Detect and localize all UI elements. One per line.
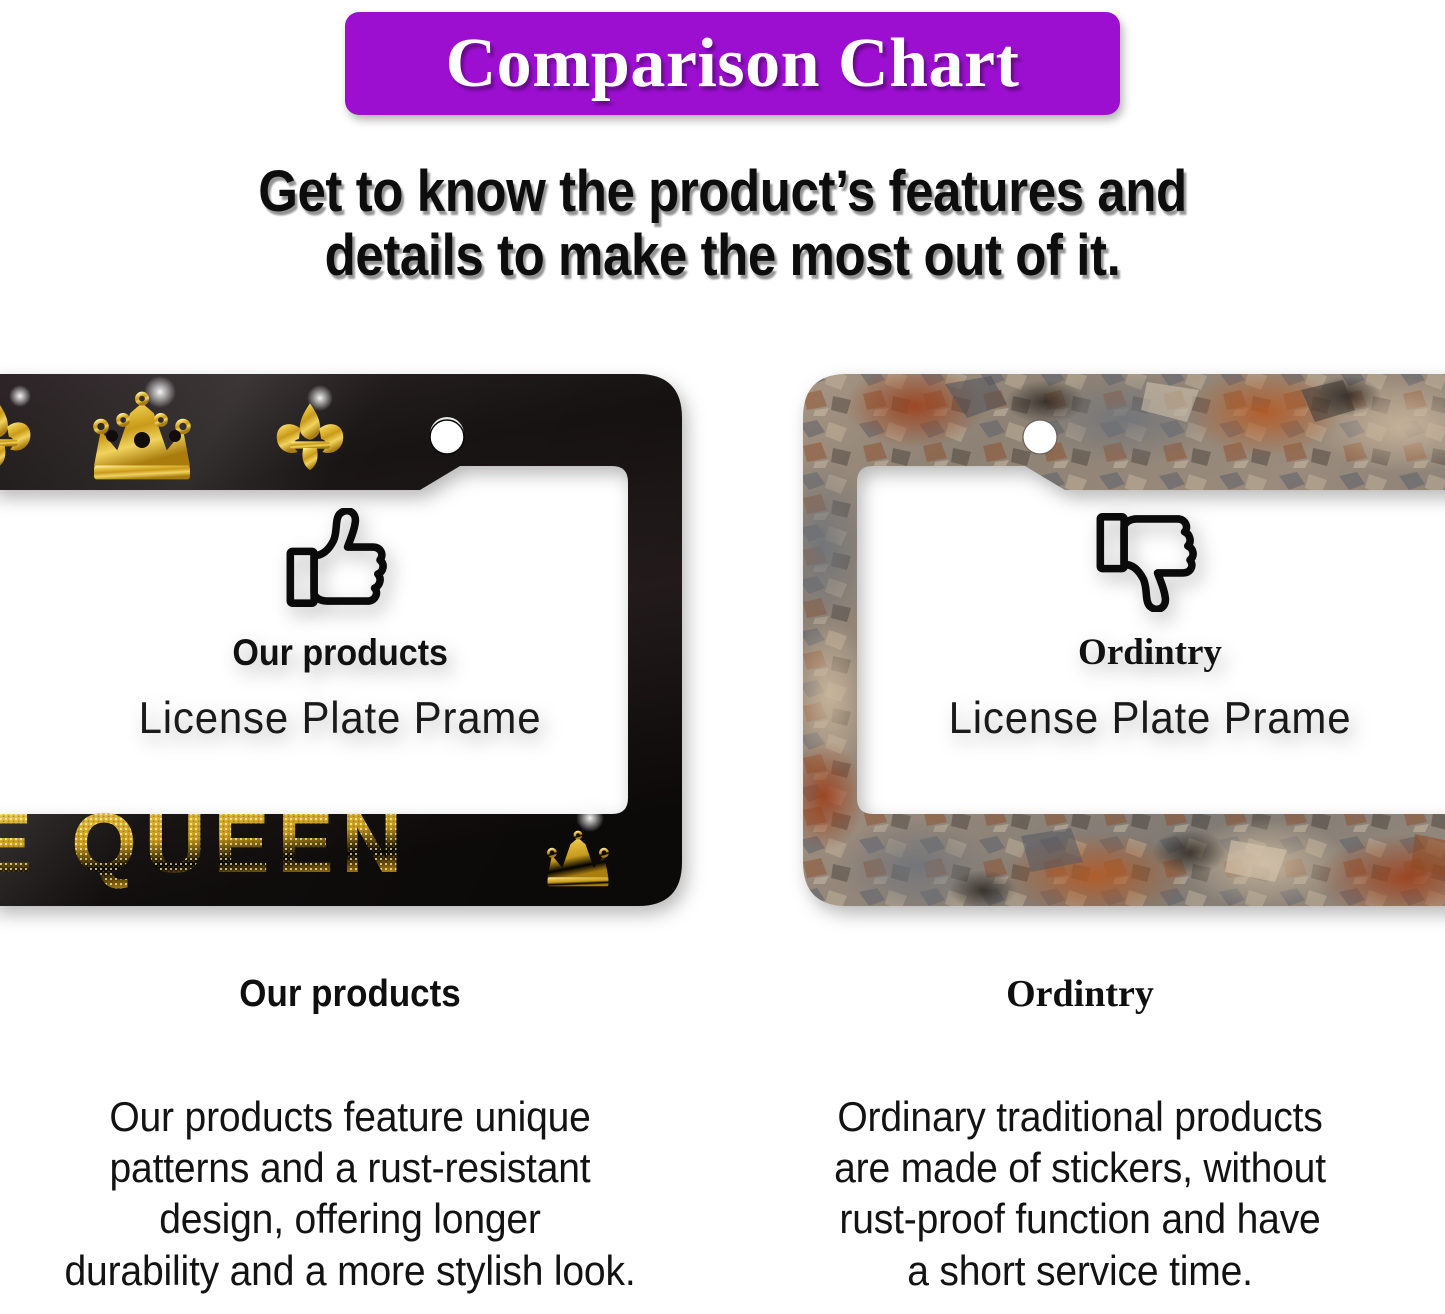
frames-row: E QUEEN E QUEEN (0, 356, 1445, 926)
description-body-ours: Our products feature unique patterns and… (25, 1091, 676, 1296)
subtitle-line-2: details to make the most out of it. (87, 224, 1359, 288)
plate-face-content-ours: Our products License Plate Prame (0, 490, 690, 790)
description-line: design, offering longer (25, 1193, 676, 1244)
page-title: Comparison Chart (446, 29, 1020, 99)
description-line: Our products feature unique (25, 1091, 676, 1142)
description-line: patterns and a rust-resistant (25, 1142, 676, 1193)
subtitle: Get to know the product’s features and d… (87, 160, 1359, 288)
plate-label-ordinary: Ordintry (1078, 634, 1222, 671)
plate-sublabel-ours: License Plate Prame (139, 696, 542, 741)
product-plate-ordinary: Ordintry License Plate Prame (795, 366, 1445, 916)
description-line: Ordinary traditional products (755, 1091, 1406, 1142)
plate-face-content-ordinary: Ordintry License Plate Prame (795, 490, 1445, 790)
description-line: durability and a more stylish look. (25, 1245, 676, 1296)
thumbs-up-icon (286, 508, 394, 612)
description-body-ordinary: Ordinary traditional products are made o… (755, 1091, 1406, 1296)
description-line: a short service time. (755, 1245, 1406, 1296)
description-column-ours: Our products Our products feature unique… (0, 975, 700, 1296)
plate-sublabel-ordinary: License Plate Prame (949, 696, 1352, 741)
description-column-ordinary: Ordintry Ordinary traditional products a… (730, 975, 1430, 1296)
thumbs-down-icon (1096, 508, 1204, 612)
description-heading-ours: Our products (28, 975, 672, 1013)
title-banner: Comparison Chart (345, 12, 1120, 115)
descriptions-row: Our products Our products feature unique… (0, 975, 1445, 1314)
subtitle-line-1: Get to know the product’s features and (87, 160, 1359, 224)
comparison-chart-page: Comparison Chart Get to know the product… (0, 0, 1445, 1314)
product-plate-ours: E QUEEN E QUEEN (0, 366, 690, 916)
plate-label-ours: Our products (232, 634, 448, 671)
description-heading-ordinary: Ordintry (730, 975, 1430, 1013)
description-line: are made of stickers, without (755, 1142, 1406, 1193)
description-line: rust-proof function and have (755, 1193, 1406, 1244)
